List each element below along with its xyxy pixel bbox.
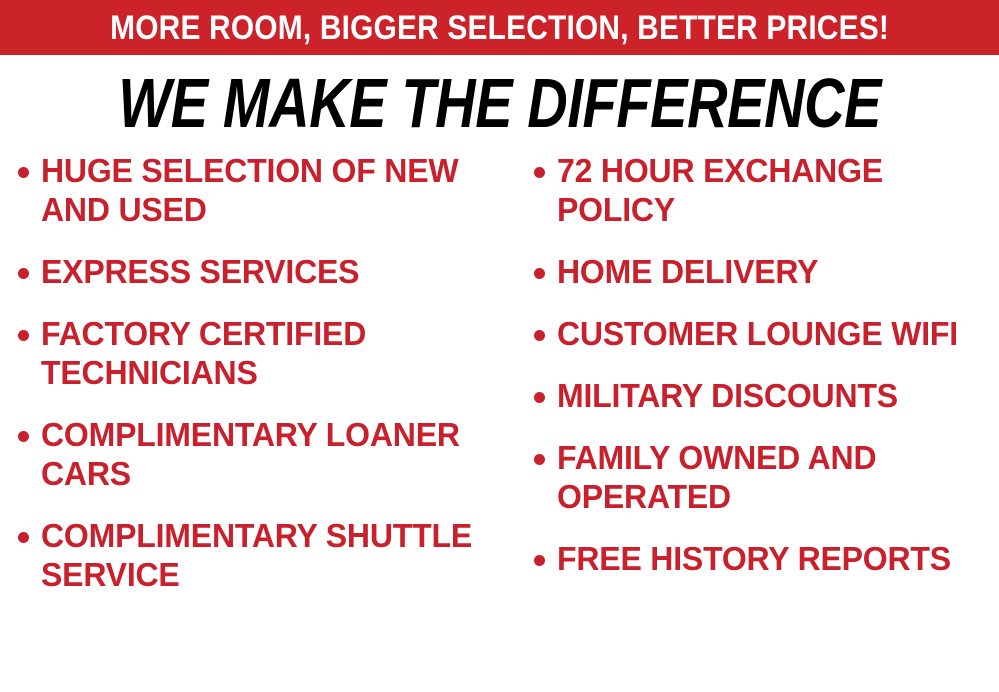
feature-columns: HUGE SELECTION OF NEW AND USED EXPRESS S… [0,152,999,692]
feature-label: EXPRESS SERVICES [41,253,359,292]
bullet-dot-icon [534,392,545,403]
bullet-dot-icon [534,555,545,566]
feature-label: FACTORY CERTIFIED TECHNICIANS [41,315,498,393]
list-item: HUGE SELECTION OF NEW AND USED [18,152,512,230]
bullet-dot-icon [534,268,545,279]
list-item: COMPLIMENTARY LOANER CARS [18,416,512,494]
list-item: MILITARY DISCOUNTS [534,377,999,416]
feature-label: FREE HISTORY REPORTS [557,540,951,579]
list-item: HOME DELIVERY [534,253,999,292]
list-item: FAMILY OWNED AND OPERATED [534,439,999,517]
feature-label: FAMILY OWNED AND OPERATED [557,439,986,517]
bullet-dot-icon [534,167,545,178]
list-item: FREE HISTORY REPORTS [534,540,999,579]
main-headline: WE MAKE THE DIFFERENCE [118,68,881,138]
header-tagline: MORE ROOM, BIGGER SELECTION, BETTER PRIC… [110,11,889,45]
feature-label: COMPLIMENTARY SHUTTLE SERVICE [41,517,498,595]
bullet-dot-icon [18,268,29,279]
list-item: 72 HOUR EXCHANGE POLICY [534,152,999,230]
bullet-dot-icon [18,167,29,178]
feature-column-left: HUGE SELECTION OF NEW AND USED EXPRESS S… [0,152,512,617]
list-item: FACTORY CERTIFIED TECHNICIANS [18,315,512,393]
bullet-dot-icon [534,330,545,341]
list-item: COMPLIMENTARY SHUTTLE SERVICE [18,517,512,595]
bullet-dot-icon [18,532,29,543]
feature-label: HOME DELIVERY [557,253,818,292]
feature-label: MILITARY DISCOUNTS [557,377,898,416]
feature-label: CUSTOMER LOUNGE WIFI [557,315,958,354]
feature-label: COMPLIMENTARY LOANER CARS [41,416,498,494]
list-item: EXPRESS SERVICES [18,253,512,292]
list-item: CUSTOMER LOUNGE WIFI [534,315,999,354]
promotional-banner: MORE ROOM, BIGGER SELECTION, BETTER PRIC… [0,0,999,692]
header-bar: MORE ROOM, BIGGER SELECTION, BETTER PRIC… [0,0,999,55]
bullet-dot-icon [18,431,29,442]
feature-column-right: 72 HOUR EXCHANGE POLICY HOME DELIVERY CU… [512,152,999,602]
headline-container: WE MAKE THE DIFFERENCE [0,66,999,140]
bullet-dot-icon [18,330,29,341]
feature-label: HUGE SELECTION OF NEW AND USED [41,152,498,230]
bullet-dot-icon [534,454,545,465]
feature-label: 72 HOUR EXCHANGE POLICY [557,152,986,230]
